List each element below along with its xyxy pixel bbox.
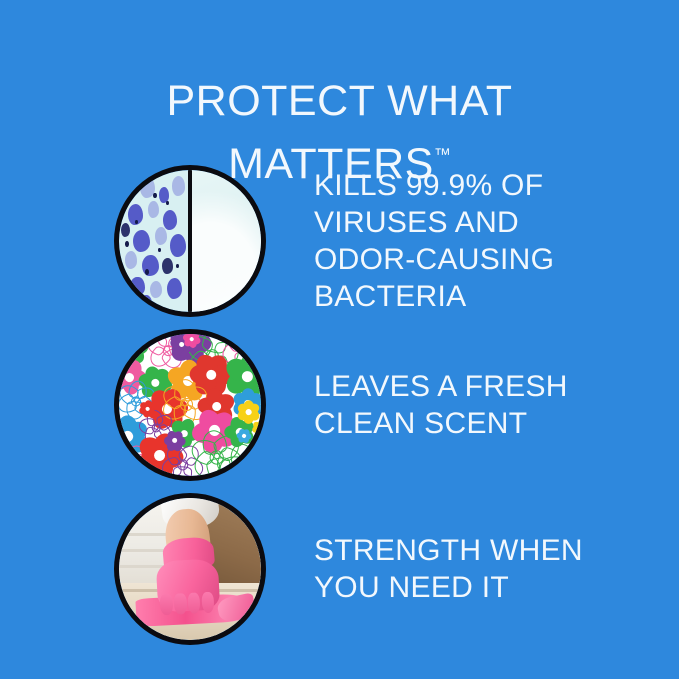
feature-text-kills-germs: KILLS 99.9% OF VIRUSES AND ODOR-CAUSING … bbox=[314, 167, 554, 315]
product-feature-poster: PROTECT WHAT MATTERS™ bbox=[0, 0, 679, 679]
feature-media-0 bbox=[114, 165, 266, 317]
feature-media-2 bbox=[114, 493, 266, 645]
feature-text-fresh-scent: LEAVES A FRESH CLEAN SCENT bbox=[314, 368, 568, 442]
feature-media-1 bbox=[114, 329, 266, 481]
microscope-before-after-image bbox=[114, 165, 266, 317]
gloved-hand-wiping-image bbox=[114, 493, 266, 645]
flower-pattern bbox=[119, 334, 261, 476]
feature-text-strength: STRENGTH WHEN YOU NEED IT bbox=[314, 532, 583, 606]
feature-row-kills-germs: KILLS 99.9% OF VIRUSES AND ODOR-CAUSING … bbox=[0, 166, 679, 316]
feature-row-fresh-scent: LEAVES A FRESH CLEAN SCENT bbox=[0, 330, 679, 480]
flower-shape bbox=[249, 417, 261, 437]
microscope-clean-half bbox=[190, 170, 261, 312]
microscope-dirty-half bbox=[119, 170, 190, 312]
pink-glove-hand bbox=[156, 559, 221, 613]
colorful-flowers-image bbox=[114, 329, 266, 481]
trademark-symbol: ™ bbox=[434, 145, 451, 164]
feature-row-strength: STRENGTH WHEN YOU NEED IT bbox=[0, 494, 679, 644]
cleaning-scene bbox=[119, 498, 261, 640]
before-after-divider bbox=[188, 170, 192, 312]
